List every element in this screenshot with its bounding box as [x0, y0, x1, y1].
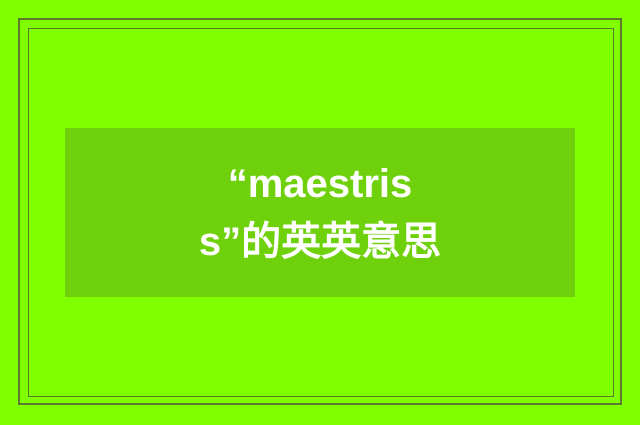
headline-text: “maestriss”的英英意思	[193, 155, 448, 271]
card-canvas: “maestriss”的英英意思	[0, 0, 640, 425]
headline-panel: “maestriss”的英英意思	[65, 128, 575, 297]
